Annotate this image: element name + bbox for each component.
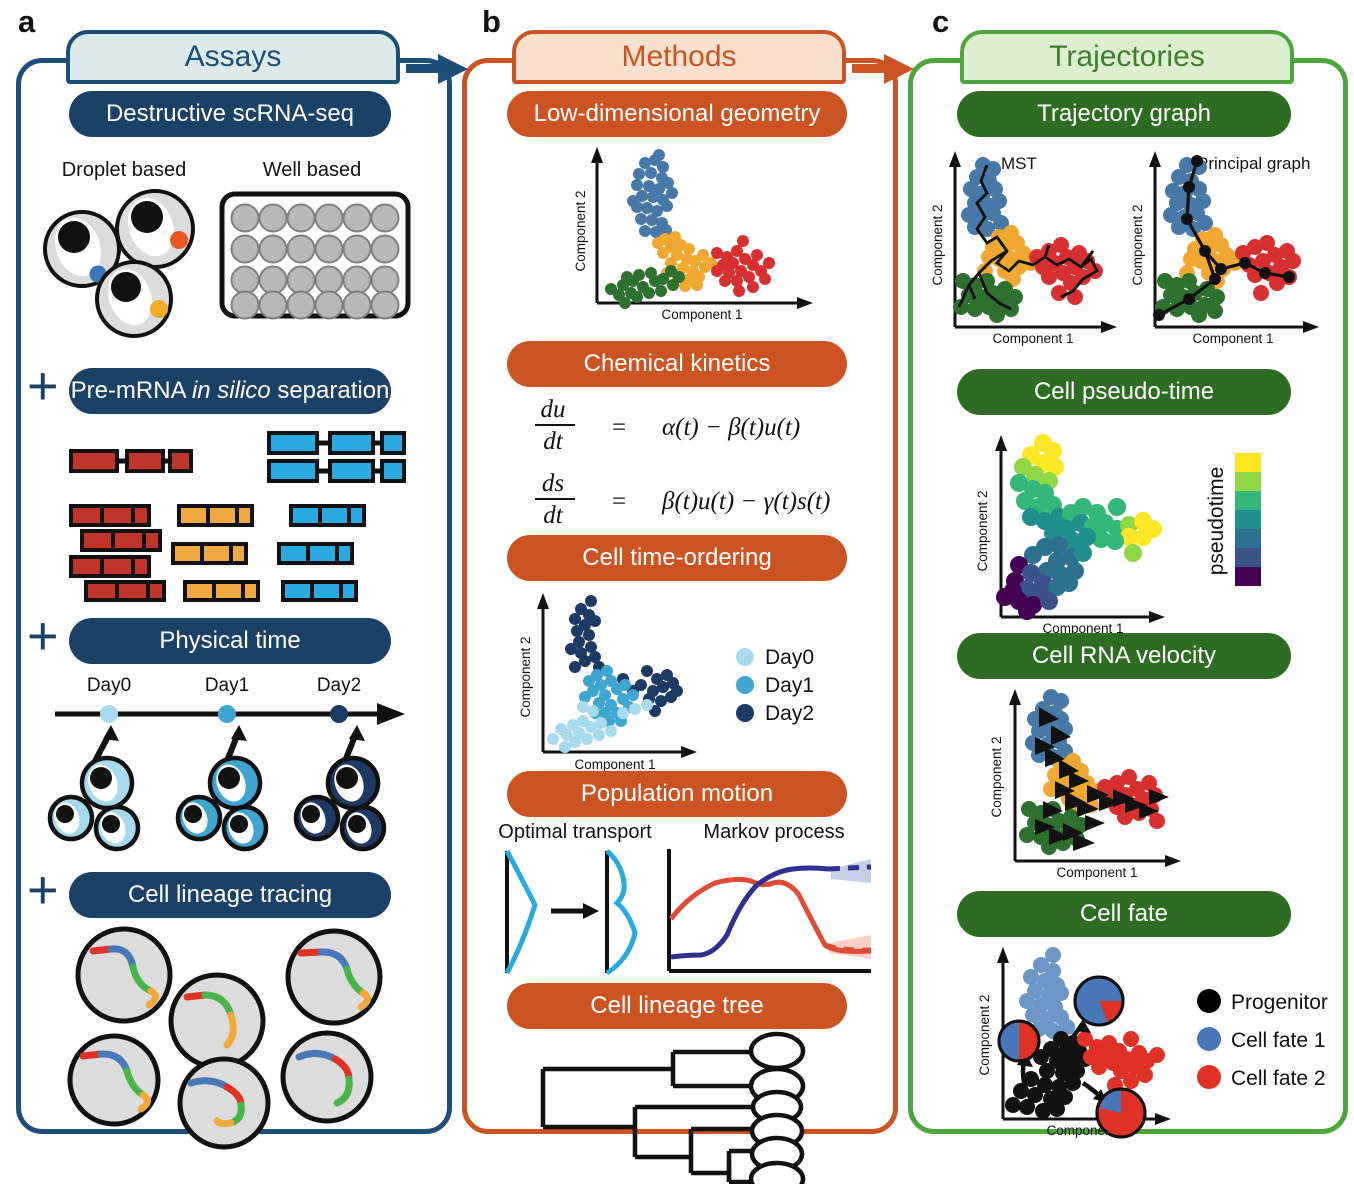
chart-cell-time-ordering: Component 1 Component 2 [505,587,855,777]
panel-tab-assays[interactable]: Assays [66,30,400,84]
legend-marker-day1 [736,676,754,694]
section-pill-trajgraph-label: Trajectory graph [1037,100,1211,128]
rna-isoform-bars-illustration [61,421,421,601]
rna-bar-blue-2 [279,544,352,563]
assay-type-droplet-label: Droplet based [31,159,217,182]
rna-bar-blue-1 [291,506,364,525]
chart-ordering-legend: Day0 Day1 Day2 [736,646,814,725]
legend-label-day1: Day1 [765,674,814,697]
legend-marker-cell-fate-1 [1197,1027,1221,1051]
chart-low-dimensional-geometry: Component 1 Component 2 [567,143,837,325]
section-pill-population-motion[interactable]: Population motion [507,771,847,817]
well-plate-illustration [219,191,411,319]
chart-cell-pseudo-time: Component 1 Component 2 [957,425,1317,645]
eq1-rhs: α(t) − β(t)u(t) [662,414,800,441]
chart-markov-process [669,849,871,971]
section-pill-cell-rna-velocity[interactable]: Cell RNA velocity [957,633,1291,679]
rna-bar-red-3 [71,557,149,576]
timeline-tick-day0: Day0 [87,675,131,696]
droplet-cell-2 [117,191,193,267]
rna-bar-orange-2 [173,544,246,563]
rna-bar-blue-3 [283,582,356,600]
chart-ordering-ylabel: Component 2 [518,636,533,717]
arrow-b-to-c-icon [852,52,914,86]
scatter-series-blue [627,149,678,238]
cellfate-pie-bottom [1097,1089,1145,1137]
timeline-tick-day2: Day2 [317,675,361,696]
section-pill-lineagetree-label: Cell lineage tree [590,992,763,1020]
chart-velocity-xlabel: Component 1 [1056,865,1137,880]
panel-tab-methods-label: Methods [621,40,736,74]
section-pill-premrna-label-italic: in silico [192,377,271,405]
physical-time-illustration: Day0 Day1 Day2 [49,673,419,868]
droplet-cells-illustration [27,187,227,319]
plus-icon-premrna: + [27,359,59,413]
legend-label-day2: Day2 [765,702,814,725]
colorbar-label-pseudotime: pseudotime [1205,467,1228,576]
chemical-kinetics-equations: du dt = α(t) − β(t)u(t) ds dt = β(t)u(t)… [507,393,852,533]
pseudotime-colorbar: pseudotime [1205,453,1261,586]
panel-tab-methods[interactable]: Methods [512,30,846,84]
legend-marker-cell-fate-2 [1197,1065,1221,1089]
scatter-series-red [711,235,775,297]
section-pill-cell-time-ordering[interactable]: Cell time-ordering [507,535,847,581]
chart-pg-xlabel: Component 1 [1192,331,1273,346]
section-pill-physical-time-label: Physical time [159,627,300,655]
section-pill-ordering-label: Cell time-ordering [582,544,771,572]
rna-bar-blue-intron-1 [269,433,404,453]
rna-bar-red-2 [82,531,160,550]
section-pill-lowdim-label: Low-dimensional geometry [534,100,821,128]
chart-velocity-ylabel: Component 2 [989,736,1004,817]
cell-lineage-tree-illustration [533,1039,853,1184]
section-pill-destructive-label: Destructive scRNA-seq [106,100,354,128]
chart-lowdim-ylabel: Component 2 [573,190,588,271]
section-pill-destructive-scrna-seq[interactable]: Destructive scRNA-seq [69,91,391,137]
chart-mst-title: MST [1001,154,1037,173]
population-motion-illustration [489,847,871,977]
panel-tab-trajectories-label: Trajectories [1049,40,1205,74]
plus-icon-physical-time: + [27,609,59,663]
lineage-tree-leaf-cells [751,1034,803,1184]
legend-marker-progenitor [1197,989,1221,1013]
section-pill-popmotion-label: Population motion [581,780,773,808]
chart-cell-rna-velocity: Component 1 Component 2 [973,685,1303,885]
popmotion-sublabel-markov-process: Markov process [679,821,869,844]
arrow-a-to-b-icon [406,52,468,86]
chart-mst: Component 1 Component 2 MST [930,151,1117,346]
timeline-dot-day1 [218,705,236,723]
section-pill-trajectory-graph[interactable]: Trajectory graph [957,91,1291,137]
section-pill-cellfate-label: Cell fate [1080,900,1168,928]
eq2-denominator: dt [543,502,564,529]
chart-cell-fate: Component 1 Component 2 [925,943,1325,1143]
eq2-equals: = [612,488,626,515]
panel-letter-a: a [18,4,35,40]
timepoint-cells-day2 [296,758,384,849]
legend-label-day0: Day0 [765,646,814,669]
panel-letter-c: c [932,4,949,40]
section-pill-lineage-tracing[interactable]: Cell lineage tracing [69,872,391,918]
chart-mst-ylabel: Component 2 [930,204,945,285]
eq2-rhs: β(t)u(t) − γ(t)s(t) [661,488,830,515]
pseudotime-points [996,434,1162,620]
section-pill-low-dimensional-geometry[interactable]: Low-dimensional geometry [507,91,847,137]
rna-bar-red-4 [86,582,164,600]
eq1-equals: = [612,414,626,441]
section-pill-physical-time[interactable]: Physical time [69,618,391,664]
chart-principal-graph: Component 1 Component 2 Principal graph [1130,151,1319,346]
rna-bar-red-1 [71,506,149,525]
cellfate-points-fate2 [1077,1031,1165,1093]
panel-tab-trajectories[interactable]: Trajectories [960,30,1294,84]
cellfate-pie-left [999,1021,1039,1061]
panel-assays: Destructive scRNA-seq Droplet based Well… [16,58,452,1134]
eq2-numerator: ds [542,470,564,497]
section-pill-premrna-label-pre: Pre-mRNA [71,377,192,405]
chart-lowdim-xlabel: Component 1 [661,307,742,322]
legend-marker-day2 [736,704,754,722]
rna-bar-blue-intron-2 [269,461,404,481]
panel-trajectories: Trajectory graph Component 1 Component 2… [908,58,1348,1134]
timepoint-cells-day0 [50,758,138,849]
droplet-cell-3 [97,262,171,336]
section-pill-cell-pseudo-time[interactable]: Cell pseudo-time [957,369,1291,415]
section-pill-cell-lineage-tree[interactable]: Cell lineage tree [507,983,847,1029]
eq1-denominator: dt [543,428,564,455]
section-pill-lineage-tracing-label: Cell lineage tracing [128,881,332,909]
timeline-up-arrows [95,731,357,761]
chart-pseudotime-ylabel: Component 2 [975,490,990,571]
chart-pg-title: Principal graph [1197,154,1310,173]
timeline-dot-day2 [330,705,348,723]
legend-label-cell-fate-1: Cell fate 1 [1231,1029,1326,1052]
lineage-barcode-cells-illustration [49,925,409,1125]
rna-bar-orange-1 [179,506,252,525]
chart-cellfate-legend: Progenitor Cell fate 1 Cell fate 2 [1197,989,1328,1090]
timeline-tick-day1: Day1 [205,675,249,696]
section-pill-kinetics-label: Chemical kinetics [584,350,771,378]
panel-tab-assays-label: Assays [185,40,282,74]
timeline-dot-day0 [100,705,118,723]
chart-ordering-xlabel: Component 1 [574,757,655,772]
section-pill-cell-fate[interactable]: Cell fate [957,891,1291,937]
panel-letter-b: b [482,4,501,40]
rna-bar-red-intron-1 [71,451,191,471]
section-pill-chemical-kinetics[interactable]: Chemical kinetics [507,341,847,387]
legend-marker-day0 [736,648,754,666]
chart-mst-xlabel: Component 1 [992,331,1073,346]
section-pill-premrna[interactable]: Pre-mRNA in silico separation [69,368,391,414]
chart-trajectory-graphs: Component 1 Component 2 MST [925,147,1331,355]
timepoint-cells-day1 [178,758,266,849]
chart-pg-ylabel: Component 2 [1130,204,1145,285]
eq1-numerator: du [541,396,566,423]
plus-icon-lineage-tracing: + [27,863,59,917]
assay-type-well-label: Well based [219,159,405,182]
popmotion-sublabel-optimal-transport: Optimal transport [485,821,665,844]
legend-label-cell-fate-2: Cell fate 2 [1231,1067,1326,1090]
rna-bar-orange-3 [185,582,258,600]
section-pill-premrna-label-post: separation [271,377,390,405]
chart-cellfate-ylabel: Component 2 [977,994,992,1075]
legend-label-progenitor: Progenitor [1231,991,1328,1014]
section-pill-velocity-label: Cell RNA velocity [1032,642,1216,670]
cellfate-pie-top [1075,977,1123,1025]
chart-optimal-transport [507,851,635,973]
panel-methods: Low-dimensional geometry Component 1 Com… [462,58,898,1134]
section-pill-pseudotime-label: Cell pseudo-time [1034,378,1214,406]
